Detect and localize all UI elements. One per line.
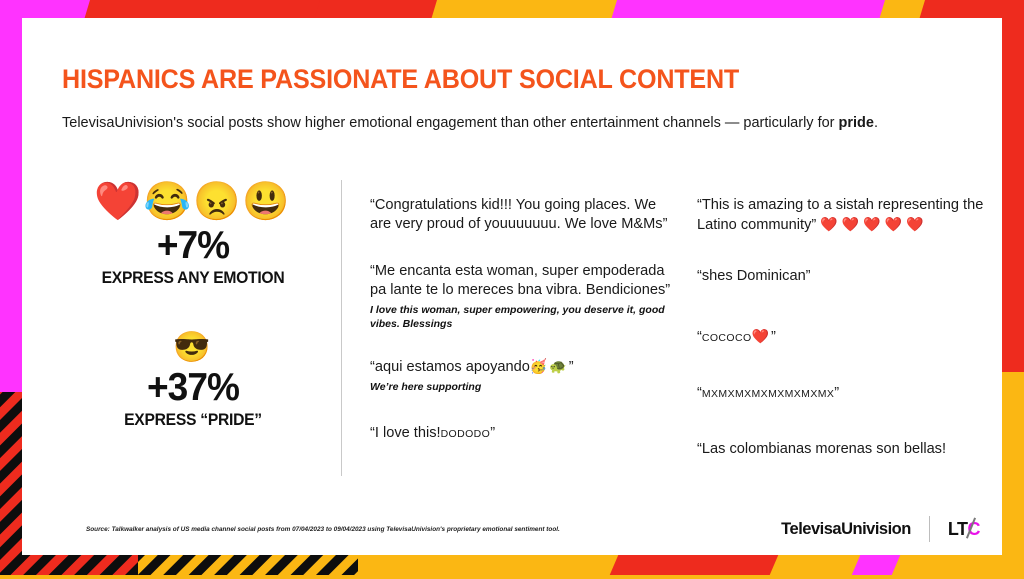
stat-label-pride: EXPRESS “PRIDE” bbox=[69, 410, 318, 430]
quote-small-caps: MXMXMXMXMXMXMXMX bbox=[702, 388, 834, 400]
quote-text-tail: ” bbox=[771, 329, 776, 345]
quote-item: “Me encanta esta woman, super empoderada… bbox=[370, 262, 672, 331]
red-heart-emoji-group: ❤️❤️❤️❤️❤️ bbox=[820, 216, 927, 232]
quote-item: “shes Dominican” bbox=[697, 267, 997, 286]
page-title: HISPANICS ARE PASSIONATE ABOUT SOCIAL CO… bbox=[62, 63, 739, 95]
quote-text-body: “aqui estamos apoyando bbox=[370, 359, 530, 375]
quote-text: “COCOCO❤️” bbox=[697, 327, 997, 348]
stat-block-pride: 😎 +37% EXPRESS “PRIDE” bbox=[62, 330, 324, 430]
quote-text-tail: ” bbox=[834, 385, 839, 401]
stat-value-any-emotion: +7% bbox=[69, 224, 318, 268]
quote-small-caps: COCOCO bbox=[702, 332, 752, 344]
ltc-logo-lt: LT bbox=[948, 519, 968, 539]
quote-text: “Me encanta esta woman, super empoderada… bbox=[370, 262, 672, 300]
quotes-column-right: “This is amazing to a sistah representin… bbox=[697, 196, 997, 459]
quote-text: “MXMXMXMXMXMXMXMX” bbox=[697, 384, 997, 404]
quote-item: “aqui estamos apoyando🥳🐢” We’re here sup… bbox=[370, 357, 672, 394]
subtitle-lead: TelevisaUnivision's social posts show hi… bbox=[62, 115, 839, 131]
quote-translation: I love this woman, super empowering, you… bbox=[370, 303, 672, 331]
source-note: Source: Talkwalker analysis of US media … bbox=[86, 525, 560, 534]
subtitle: TelevisaUnivision's social posts show hi… bbox=[62, 113, 878, 133]
red-heart-emoji: ❤️ bbox=[752, 328, 771, 344]
quote-item: “This is amazing to a sistah representin… bbox=[697, 196, 997, 235]
subtitle-tail: . bbox=[874, 115, 878, 131]
stat-block-any-emotion: ❤️😂😠😃 +7% EXPRESS ANY EMOTION bbox=[62, 180, 324, 288]
quote-translation: We’re here supporting bbox=[370, 380, 672, 394]
quote-text-body: “I love this! bbox=[370, 425, 441, 441]
televisaunivision-logo: TelevisaUnivision bbox=[781, 520, 911, 539]
slide-canvas: HISPANICS ARE PASSIONATE ABOUT SOCIAL CO… bbox=[0, 0, 1024, 579]
stats-spacer bbox=[62, 288, 324, 330]
quote-text-tail: ” bbox=[490, 425, 495, 441]
quote-item: “Las colombianas morenas son bellas! bbox=[697, 440, 997, 459]
logo-separator bbox=[929, 516, 930, 542]
column-divider bbox=[341, 180, 342, 476]
stats-column: ❤️😂😠😃 +7% EXPRESS ANY EMOTION 😎 +37% EXP… bbox=[62, 180, 324, 430]
smiling-face-with-sunglasses-icon: 😎 bbox=[62, 330, 324, 366]
ltc-logo: LTC bbox=[948, 519, 984, 540]
quote-text: “shes Dominican” bbox=[697, 267, 997, 286]
subtitle-emphasis: pride bbox=[839, 115, 874, 131]
quote-text: “Las colombianas morenas son bellas! bbox=[697, 440, 997, 459]
quote-text: “I love this!DODODO” bbox=[370, 424, 672, 444]
inline-emoji-group: 🥳🐢 bbox=[530, 358, 569, 374]
quote-text: “This is amazing to a sistah representin… bbox=[697, 196, 997, 235]
quote-text: “aqui estamos apoyando🥳🐢” bbox=[370, 357, 672, 377]
quote-small-caps: DODODO bbox=[441, 428, 491, 440]
quote-item: “MXMXMXMXMXMXMXMX” bbox=[697, 384, 997, 404]
logo-bar: TelevisaUnivision LTC bbox=[781, 516, 984, 542]
emotion-emoji-row: ❤️😂😠😃 bbox=[62, 180, 324, 224]
stat-value-pride: +37% bbox=[69, 366, 318, 410]
quote-text: “Congratulations kid!!! You going places… bbox=[370, 196, 672, 234]
quote-item: “I love this!DODODO” bbox=[370, 424, 672, 444]
quotes-column-middle: “Congratulations kid!!! You going places… bbox=[370, 196, 672, 444]
quote-item: “Congratulations kid!!! You going places… bbox=[370, 196, 672, 234]
quote-text-tail: ” bbox=[569, 359, 574, 375]
quote-item: “COCOCO❤️” bbox=[697, 327, 997, 348]
stat-label-any-emotion: EXPRESS ANY EMOTION bbox=[69, 268, 318, 288]
